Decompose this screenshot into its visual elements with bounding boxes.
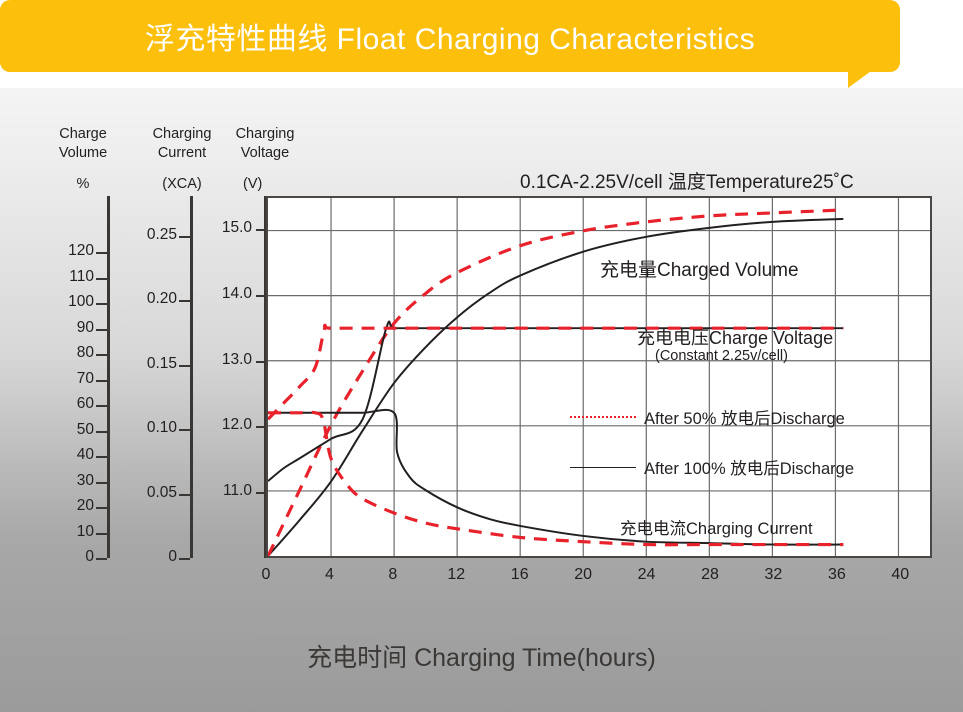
- axis-tick: [96, 431, 107, 433]
- axis-tick-label: 20: [77, 497, 94, 515]
- axis-tick: [96, 252, 107, 254]
- axis-tick-label: 80: [77, 344, 94, 362]
- axis-caption-charge-volume: Charge Volume: [38, 125, 128, 163]
- axis-tick-label: 110: [69, 268, 94, 286]
- legend-swatch-solid-icon: [570, 467, 636, 468]
- axis-unit-volt: (V): [243, 176, 287, 192]
- axis-tick-label: 0.15: [147, 355, 177, 373]
- annotation-charging-current: 充电电流Charging Current: [620, 515, 813, 539]
- annotation-charged-volume: 充电量Charged Volume: [600, 255, 799, 282]
- legend-label: After 100% 放电后Discharge: [644, 455, 854, 479]
- x-tick-label: 12: [436, 566, 476, 584]
- axis-tick: [179, 558, 190, 560]
- axis-tick: [96, 354, 107, 356]
- legend-swatch-dashed-icon: [570, 416, 636, 418]
- axis-tick: [96, 558, 107, 560]
- axis-tick-label: 0.20: [147, 290, 177, 308]
- axis-tick-label: 90: [77, 319, 94, 337]
- axis-tick-label: 50: [77, 421, 94, 439]
- axis-tick-label: 15.0: [222, 219, 252, 237]
- x-tick-label: 40: [880, 566, 920, 584]
- axis-tick-label: 11.0: [223, 482, 252, 500]
- axis-tick: [96, 380, 107, 382]
- axis-caption-charging-voltage: Charging Voltage: [219, 125, 311, 163]
- axis-tick-label: 0.25: [147, 226, 177, 244]
- axis-tick: [96, 482, 107, 484]
- page-title: 浮充特性曲线 Float Charging Characteristics: [0, 0, 900, 72]
- x-tick-label: 32: [753, 566, 793, 584]
- legend-item-after-100: After 100% 放电后Discharge: [570, 455, 854, 479]
- axis-tick-label: 0: [168, 548, 177, 566]
- axis-tick: [96, 303, 107, 305]
- caption-line-2: Volume: [38, 144, 128, 163]
- axis-tick-label: 70: [77, 370, 94, 388]
- caption-line-1: Charging: [219, 125, 311, 144]
- axis-tick: [179, 494, 190, 496]
- axis-tick: [179, 429, 190, 431]
- axis-tick: [179, 300, 190, 302]
- axis-tick-label: 10: [77, 523, 94, 541]
- axis-tick: [96, 278, 107, 280]
- x-tick-label: 4: [309, 566, 349, 584]
- axis-unit-xca: (XCA): [136, 176, 228, 192]
- axis-tick-label: 120: [68, 242, 94, 260]
- x-tick-label: 36: [817, 566, 857, 584]
- charging-current-axis-line: [190, 196, 193, 558]
- legend-item-after-50: After 50% 放电后Discharge: [570, 405, 845, 429]
- axis-tick-label: 40: [77, 446, 94, 464]
- axis-tick-label: 100: [68, 293, 94, 311]
- x-tick-label: 16: [500, 566, 540, 584]
- caption-line-1: Charging: [136, 125, 228, 144]
- axis-tick-label: 30: [77, 472, 94, 490]
- axis-tick-label: 0: [85, 548, 94, 566]
- caption-line-2: Voltage: [219, 144, 311, 163]
- annotation-charge-voltage-sub: (Constant 2.25v/cell): [655, 348, 788, 364]
- axis-tick-label: 12.0: [222, 416, 252, 434]
- axis-tick-label: 13.0: [222, 351, 252, 369]
- axis-tick: [96, 456, 107, 458]
- annotation-charge-voltage: 充电电压Charge Voltage: [637, 324, 833, 350]
- charge-volume-axis-line: [107, 196, 110, 558]
- axis-tick: [96, 507, 107, 509]
- axis-tick: [96, 533, 107, 535]
- plot-area: [266, 196, 932, 558]
- caption-line-1: Charge: [38, 125, 128, 144]
- axis-unit-percent: %: [38, 176, 128, 192]
- x-tick-label: 28: [690, 566, 730, 584]
- legend-label: After 50% 放电后Discharge: [644, 405, 845, 429]
- axis-tick-label: 0.05: [147, 484, 177, 502]
- x-axis-title: 充电时间 Charging Time(hours): [0, 638, 963, 674]
- x-tick-label: 20: [563, 566, 603, 584]
- axis-tick-label: 0.10: [147, 419, 177, 437]
- axis-tick: [179, 365, 190, 367]
- header-banner: 浮充特性曲线 Float Charging Characteristics: [0, 0, 963, 88]
- axis-tick-label: 60: [77, 395, 94, 413]
- x-tick-label: 24: [627, 566, 667, 584]
- x-tick-label: 8: [373, 566, 413, 584]
- axis-tick: [96, 405, 107, 407]
- condition-note: 0.1CA-2.25V/cell 温度Temperature25˚C: [520, 167, 950, 194]
- axis-tick: [96, 329, 107, 331]
- x-tick-label: 0: [246, 566, 286, 584]
- chart-svg: [268, 198, 930, 556]
- caption-line-2: Current: [136, 144, 228, 163]
- axis-tick: [179, 236, 190, 238]
- axis-caption-charging-current: Charging Current: [136, 125, 228, 163]
- axis-tick-label: 14.0: [222, 285, 252, 303]
